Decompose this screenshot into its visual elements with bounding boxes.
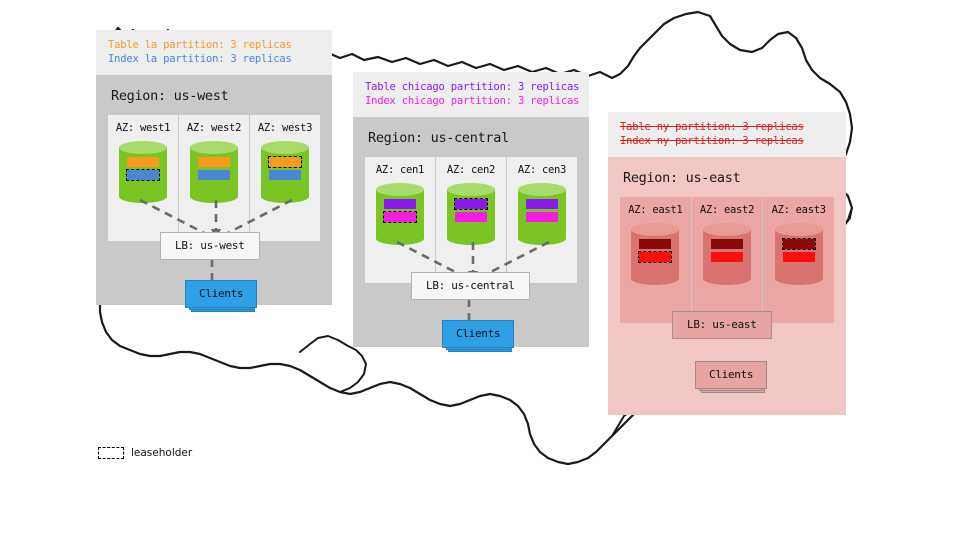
az-row-us-central: AZ: cen1 AZ: cen2	[365, 157, 577, 283]
cylinder-top	[703, 223, 751, 236]
leaseholder-swatch-icon	[98, 447, 124, 459]
replica-bars	[190, 157, 238, 180]
node-cylinder-west2[interactable]	[190, 141, 238, 203]
node-cylinder-east1[interactable]	[631, 223, 679, 285]
bar-index-replica	[526, 212, 558, 222]
bar-index-replica	[711, 252, 743, 262]
replica-bars	[518, 199, 566, 222]
diagram-canvas: Table la partition: 3 replicas Index la …	[0, 0, 960, 540]
lb-us-east[interactable]: LB: us-east	[672, 311, 772, 339]
bar-table-replica-leaseholder	[455, 199, 487, 209]
callout-us-east: Table ny partition: 3 replicas Index ny …	[608, 112, 846, 157]
region-title-us-east: Region: us-east	[620, 167, 834, 197]
bar-index-replica	[269, 170, 301, 180]
replica-bars	[119, 157, 167, 180]
az-row-us-west: AZ: west1 AZ: west2	[108, 115, 320, 241]
lb-us-west[interactable]: LB: us-west	[160, 232, 260, 260]
bar-table-replica-leaseholder	[269, 157, 301, 167]
az-label: AZ: cen3	[513, 164, 571, 176]
bar-index-replica	[455, 212, 487, 222]
callout-line-table: Table ny partition: 3 replicas	[620, 120, 834, 134]
bar-index-replica-leaseholder	[127, 170, 159, 180]
node-cylinder-cen3[interactable]	[518, 183, 566, 245]
legend: leaseholder	[98, 447, 192, 459]
region-body-us-west: Region: us-west AZ: west1 AZ:	[96, 75, 332, 305]
az-label: AZ: east1	[626, 204, 685, 216]
az-label: AZ: cen2	[442, 164, 500, 176]
region-title-us-central: Region: us-central	[365, 127, 577, 157]
region-panel-us-west: Table la partition: 3 replicas Index la …	[96, 30, 332, 305]
bar-table-replica	[639, 239, 671, 249]
bar-index-replica	[198, 170, 230, 180]
cylinder-top	[119, 141, 167, 154]
node-cylinder-east2[interactable]	[703, 223, 751, 285]
az-east1[interactable]: AZ: east1	[620, 197, 691, 323]
cylinder-top	[447, 183, 495, 196]
az-label: AZ: east3	[769, 204, 828, 216]
clients-us-central[interactable]: Clients	[442, 320, 514, 348]
node-cylinder-west3[interactable]	[261, 141, 309, 203]
bar-table-replica	[198, 157, 230, 167]
az-label: AZ: west3	[256, 122, 314, 134]
callout-line-table: Table la partition: 3 replicas	[108, 38, 320, 52]
replica-bars	[631, 239, 679, 262]
cylinder-top	[376, 183, 424, 196]
callout-line-index: Index la partition: 3 replicas	[108, 52, 320, 66]
bar-index-replica	[783, 252, 815, 262]
region-title-us-west: Region: us-west	[108, 85, 320, 115]
cylinder-top	[775, 223, 823, 236]
callout-line-table: Table chicago partition: 3 replicas	[365, 80, 577, 94]
cylinder-top	[190, 141, 238, 154]
replica-bars	[775, 239, 823, 262]
az-label: AZ: cen1	[371, 164, 429, 176]
region-panel-us-central: Table chicago partition: 3 replicas Inde…	[353, 72, 589, 347]
az-west3[interactable]: AZ: west3	[249, 115, 320, 241]
az-west1[interactable]: AZ: west1	[108, 115, 178, 241]
node-cylinder-cen1[interactable]	[376, 183, 424, 245]
replica-bars	[376, 199, 424, 222]
az-label: AZ: west1	[114, 122, 172, 134]
callout-line-index: Index ny partition: 3 replicas	[620, 134, 834, 148]
bar-index-replica-leaseholder	[639, 252, 671, 262]
bar-table-replica	[384, 199, 416, 209]
bar-table-replica-leaseholder	[783, 239, 815, 249]
node-cylinder-cen2[interactable]	[447, 183, 495, 245]
bar-index-replica-leaseholder	[384, 212, 416, 222]
callout-us-west: Table la partition: 3 replicas Index la …	[96, 30, 332, 75]
az-cen1[interactable]: AZ: cen1	[365, 157, 435, 283]
region-body-us-central: Region: us-central AZ: cen1 A	[353, 117, 589, 347]
bar-table-replica	[127, 157, 159, 167]
az-east2[interactable]: AZ: east2	[691, 197, 763, 323]
replica-bars	[703, 239, 751, 262]
callout-line-index: Index chicago partition: 3 replicas	[365, 94, 577, 108]
callout-us-central: Table chicago partition: 3 replicas Inde…	[353, 72, 589, 117]
replica-bars	[447, 199, 495, 222]
clients-us-east[interactable]: Clients	[695, 361, 767, 389]
az-cen2[interactable]: AZ: cen2	[435, 157, 506, 283]
bar-table-replica	[526, 199, 558, 209]
cylinder-top	[631, 223, 679, 236]
az-west2[interactable]: AZ: west2	[178, 115, 249, 241]
az-cen3[interactable]: AZ: cen3	[506, 157, 577, 283]
clients-card-label[interactable]: Clients	[695, 361, 767, 389]
az-east3[interactable]: AZ: east3	[762, 197, 834, 323]
bar-table-replica	[711, 239, 743, 249]
clients-card-label[interactable]: Clients	[442, 320, 514, 348]
az-row-us-east: AZ: east1 AZ: east2	[620, 197, 834, 323]
replica-bars	[261, 157, 309, 180]
node-cylinder-west1[interactable]	[119, 141, 167, 203]
clients-us-west[interactable]: Clients	[185, 280, 257, 308]
cylinder-top	[518, 183, 566, 196]
az-label: AZ: east2	[698, 204, 757, 216]
az-label: AZ: west2	[185, 122, 243, 134]
clients-card-label[interactable]: Clients	[185, 280, 257, 308]
legend-label: leaseholder	[131, 447, 192, 459]
lb-us-central[interactable]: LB: us-central	[411, 272, 530, 300]
cylinder-top	[261, 141, 309, 154]
node-cylinder-east3[interactable]	[775, 223, 823, 285]
